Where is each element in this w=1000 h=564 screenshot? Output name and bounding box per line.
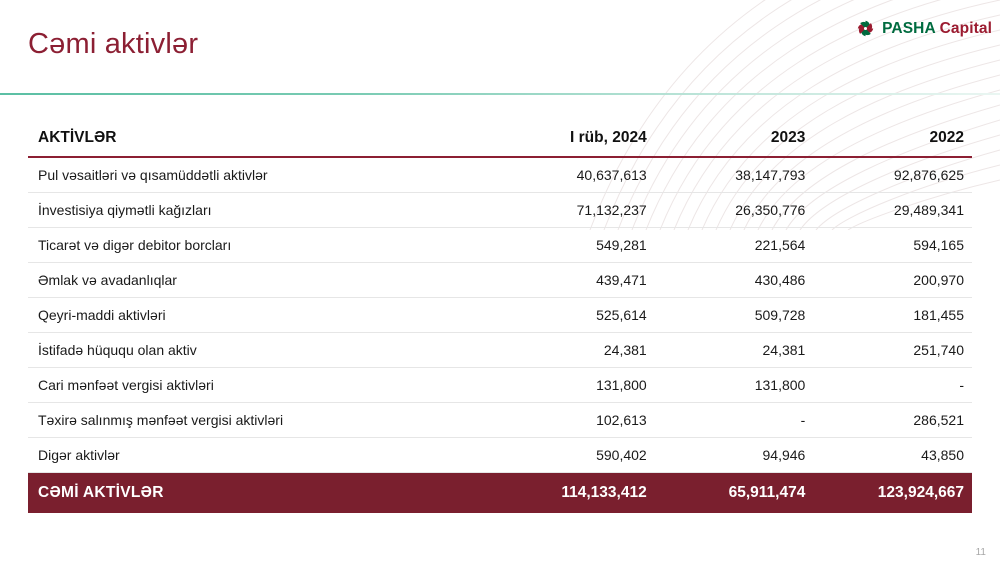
row-label: Təxirə salınmış mənfəət vergisi aktivlər… <box>28 403 496 438</box>
cell-2023: 430,486 <box>655 263 814 298</box>
cell-q1-2024: 40,637,613 <box>496 157 655 193</box>
cell-q1-2024: 549,281 <box>496 228 655 263</box>
table-header: AKTİVLƏR I rüb, 2024 2023 2022 <box>28 125 972 157</box>
row-label: Pul vəsaitləri və qısamüddətli aktivlər <box>28 157 496 193</box>
table-row: Pul vəsaitləri və qısamüddətli aktivlər4… <box>28 157 972 193</box>
cell-2022: 29,489,341 <box>813 193 972 228</box>
cell-2022: 43,850 <box>813 438 972 473</box>
table-row: Ticarət və digər debitor borcları549,281… <box>28 228 972 263</box>
cell-2023: 131,800 <box>655 368 814 403</box>
table-row: Təxirə salınmış mənfəət vergisi aktivlər… <box>28 403 972 438</box>
total-2023: 65,911,474 <box>655 473 814 514</box>
pasha-capital-logo: PASHA Capital <box>856 19 992 38</box>
table-total-row: CƏMİ AKTİVLƏR114,133,41265,911,474123,92… <box>28 473 972 514</box>
page-title: Cəmi aktivlər <box>28 28 198 61</box>
cell-2022: 200,970 <box>813 263 972 298</box>
cell-q1-2024: 439,471 <box>496 263 655 298</box>
column-header-2022: 2022 <box>813 125 972 157</box>
cell-2022: - <box>813 368 972 403</box>
cell-2023: - <box>655 403 814 438</box>
cell-2022: 286,521 <box>813 403 972 438</box>
cell-2023: 38,147,793 <box>655 157 814 193</box>
cell-2022: 92,876,625 <box>813 157 972 193</box>
cell-2023: 509,728 <box>655 298 814 333</box>
cell-2023: 94,946 <box>655 438 814 473</box>
cell-2023: 24,381 <box>655 333 814 368</box>
page-number: 11 <box>976 547 986 558</box>
row-label: Digər aktivlər <box>28 438 496 473</box>
row-label: İnvestisiya qiymətli kağızları <box>28 193 496 228</box>
column-header-assets: AKTİVLƏR <box>28 125 496 157</box>
row-label: Ticarət və digər debitor borcları <box>28 228 496 263</box>
cell-q1-2024: 71,132,237 <box>496 193 655 228</box>
cell-q1-2024: 590,402 <box>496 438 655 473</box>
row-label: Əmlak və avadanlıqlar <box>28 263 496 298</box>
cell-2022: 251,740 <box>813 333 972 368</box>
table-header-row: AKTİVLƏR I rüb, 2024 2023 2022 <box>28 125 972 157</box>
row-label: Cari mənfəət vergisi aktivləri <box>28 368 496 403</box>
column-header-2023: 2023 <box>655 125 814 157</box>
cell-q1-2024: 24,381 <box>496 333 655 368</box>
total-2022: 123,924,667 <box>813 473 972 514</box>
table-row: Cari mənfəət vergisi aktivləri131,800131… <box>28 368 972 403</box>
cell-2023: 221,564 <box>655 228 814 263</box>
cell-2023: 26,350,776 <box>655 193 814 228</box>
cell-2022: 181,455 <box>813 298 972 333</box>
table-row: İnvestisiya qiymətli kağızları71,132,237… <box>28 193 972 228</box>
table-row: Qeyri-maddi aktivləri525,614509,728181,4… <box>28 298 972 333</box>
row-label: Qeyri-maddi aktivləri <box>28 298 496 333</box>
total-q1-2024: 114,133,412 <box>496 473 655 514</box>
row-label: İstifadə hüququ olan aktiv <box>28 333 496 368</box>
assets-table: AKTİVLƏR I rüb, 2024 2023 2022 Pul vəsai… <box>28 125 972 513</box>
title-divider <box>0 93 1000 95</box>
logo-secondary-text: Capital <box>940 20 992 37</box>
cell-q1-2024: 131,800 <box>496 368 655 403</box>
table-row: Əmlak və avadanlıqlar439,471430,486200,9… <box>28 263 972 298</box>
pasha-pinwheel-icon <box>856 19 875 38</box>
cell-2022: 594,165 <box>813 228 972 263</box>
table-row: Digər aktivlər590,40294,94643,850 <box>28 438 972 473</box>
table-body: Pul vəsaitləri və qısamüddətli aktivlər4… <box>28 157 972 513</box>
cell-q1-2024: 525,614 <box>496 298 655 333</box>
logo-wordmark: PASHA Capital <box>882 20 992 38</box>
table-row: İstifadə hüququ olan aktiv24,38124,38125… <box>28 333 972 368</box>
total-label: CƏMİ AKTİVLƏR <box>28 473 496 514</box>
logo-primary-text: PASHA <box>882 20 935 37</box>
column-header-q1-2024: I rüb, 2024 <box>496 125 655 157</box>
cell-q1-2024: 102,613 <box>496 403 655 438</box>
